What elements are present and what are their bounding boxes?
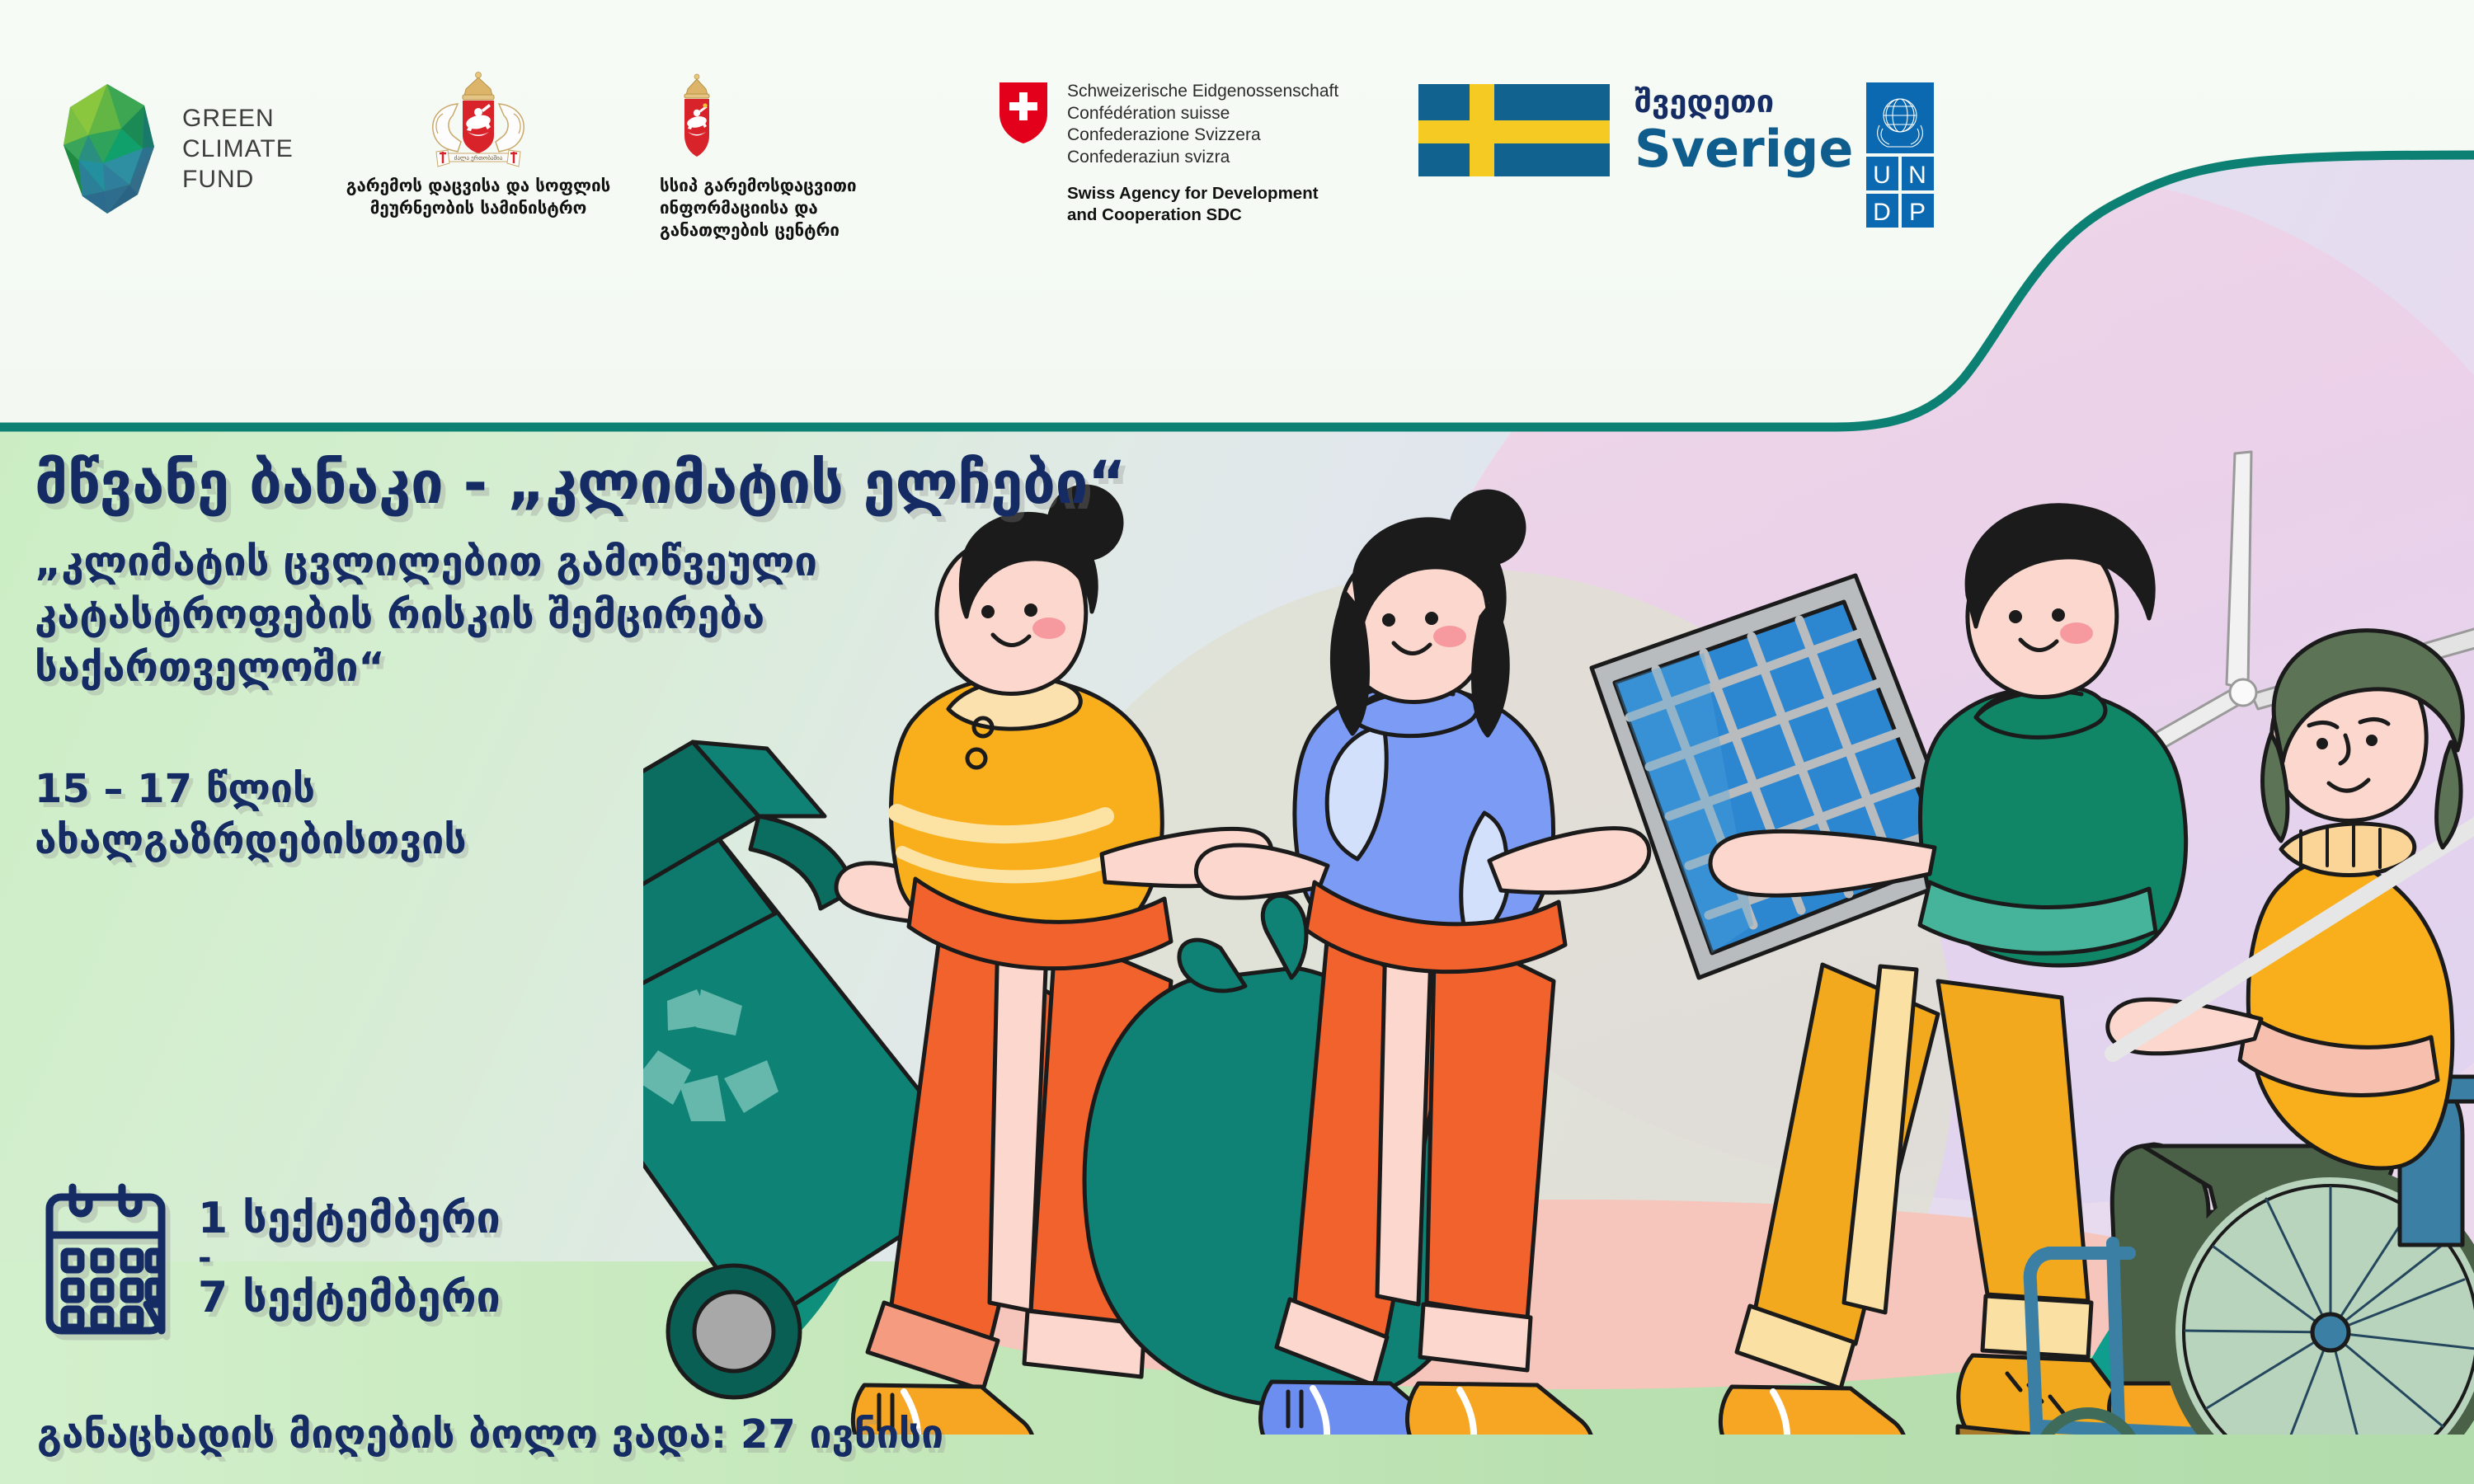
calendar-icon (43, 1179, 168, 1337)
date-range: 1 სექტემბერი - 7 სექტემბერი (198, 1193, 501, 1323)
subtitle-line-2: კატასტროფების რისკის შემცირება (35, 589, 1437, 641)
main-text-block: მწვანე ბანაკი - „კლიმატის ელჩები“ „კლიმა… (35, 445, 1437, 866)
page-title: მწვანე ბანაკი - „კლიმატის ელჩები“ (35, 445, 1437, 521)
sweden-wordmark: შვედეთი Sverige (1634, 84, 1853, 176)
gcf-line-2: CLIMATE (182, 134, 294, 164)
date-start: 1 სექტემბერი (198, 1193, 501, 1244)
sdc-bold-line-2: and Cooperation SDC (1067, 204, 1338, 226)
date-dash: - (198, 1244, 501, 1272)
gcf-wordmark: GREEN CLIMATE FUND (182, 103, 294, 195)
date-row: 1 სექტემბერი - 7 სექტემბერი (43, 1179, 501, 1337)
sweden-label-ka: შვედეთი (1634, 84, 1853, 119)
ministry-caption: გარემოს დაცვისა და სოფლის მეურნეობის სამ… (346, 175, 611, 219)
ssip-caption-line-1: სსიპ გარემოსდაცვითი (660, 175, 857, 197)
sweden-label-sv: Sverige (1634, 122, 1853, 176)
swiss-line-de: Schweizerische Eidgenossenschaft (1067, 81, 1338, 103)
logo-ministry-environment: ძალა ერთობაშია გარემოს დაცვისა და სოფლის… (338, 71, 618, 219)
age-line-2: ახალგაზრდებისთვის (35, 815, 1437, 866)
undp-letter-n: N (1908, 162, 1926, 189)
swiss-shield-icon (998, 81, 1049, 145)
gcf-line-1: GREEN (182, 103, 294, 134)
logo-swiss-sdc: Schweizerische Eidgenossenschaft Confédé… (998, 81, 1338, 226)
ssip-caption: სსიპ გარემოსდაცვითი ინფორმაციისა და განა… (660, 175, 857, 242)
poster-root: GREEN CLIMATE FUND (0, 0, 2474, 1484)
logo-bar: GREEN CLIMATE FUND (0, 66, 2144, 223)
age-group: 15 – 17 წლის ახალგაზრდებისთვის (35, 763, 1437, 866)
ssip-caption-line-2: ინფორმაციისა და (660, 197, 857, 219)
undp-letter-p: P (1909, 199, 1926, 226)
swiss-text-block: Schweizerische Eidgenossenschaft Confédé… (1067, 81, 1338, 226)
georgia-coat-of-arms-icon: ძალა ერთობაშია (400, 71, 557, 170)
swiss-line-it: Confederazione Svizzera (1067, 124, 1338, 147)
undp-letter-u: U (1873, 162, 1891, 189)
logo-sweden: შვედეთი Sverige (1418, 84, 1853, 176)
undp-letter-d: D (1873, 199, 1891, 226)
swiss-line-rm: Confederaziun svizra (1067, 147, 1338, 169)
age-line-1: 15 – 17 წლის (35, 763, 1437, 815)
sweden-flag-icon (1418, 84, 1610, 176)
georgia-small-arms-icon (668, 71, 726, 170)
subtitle-line-1: „კლიმატის ცვლილებით გამოწვეული (35, 536, 1437, 589)
ssip-caption-line-3: განათლების ცენტრი (660, 219, 857, 242)
ministry-caption-line-2: მეურნეობის სამინისტრო (346, 197, 611, 219)
undp-emblem-icon: U N D P (1851, 82, 1949, 228)
sdc-bold-line-1: Swiss Agency for Development (1067, 183, 1338, 204)
application-deadline: განაცხადის მიღების ბოლო ვადა: 27 ივნისი (37, 1410, 943, 1459)
logo-ssip-centre: სსიპ გარემოსდაცვითი ინფორმაციისა და განა… (660, 71, 940, 242)
logo-undp: U N D P (1851, 82, 1949, 228)
logo-green-climate-fund: GREEN CLIMATE FUND (45, 81, 294, 217)
subtitle-line-3: საქართველოში“ (35, 641, 1437, 694)
gcf-line-3: FUND (182, 164, 294, 195)
date-end: 7 სექტემბერი (198, 1272, 501, 1323)
svg-text:ძალა ერთობაშია: ძალა ერთობაშია (454, 154, 503, 162)
gcf-globe-icon (45, 81, 169, 217)
project-subtitle: „კლიმატის ცვლილებით გამოწვეული კატასტროფ… (35, 536, 1437, 694)
swiss-line-fr: Confédération suisse (1067, 103, 1338, 125)
ministry-caption-line-1: გარემოს დაცვისა და სოფლის (346, 175, 611, 197)
